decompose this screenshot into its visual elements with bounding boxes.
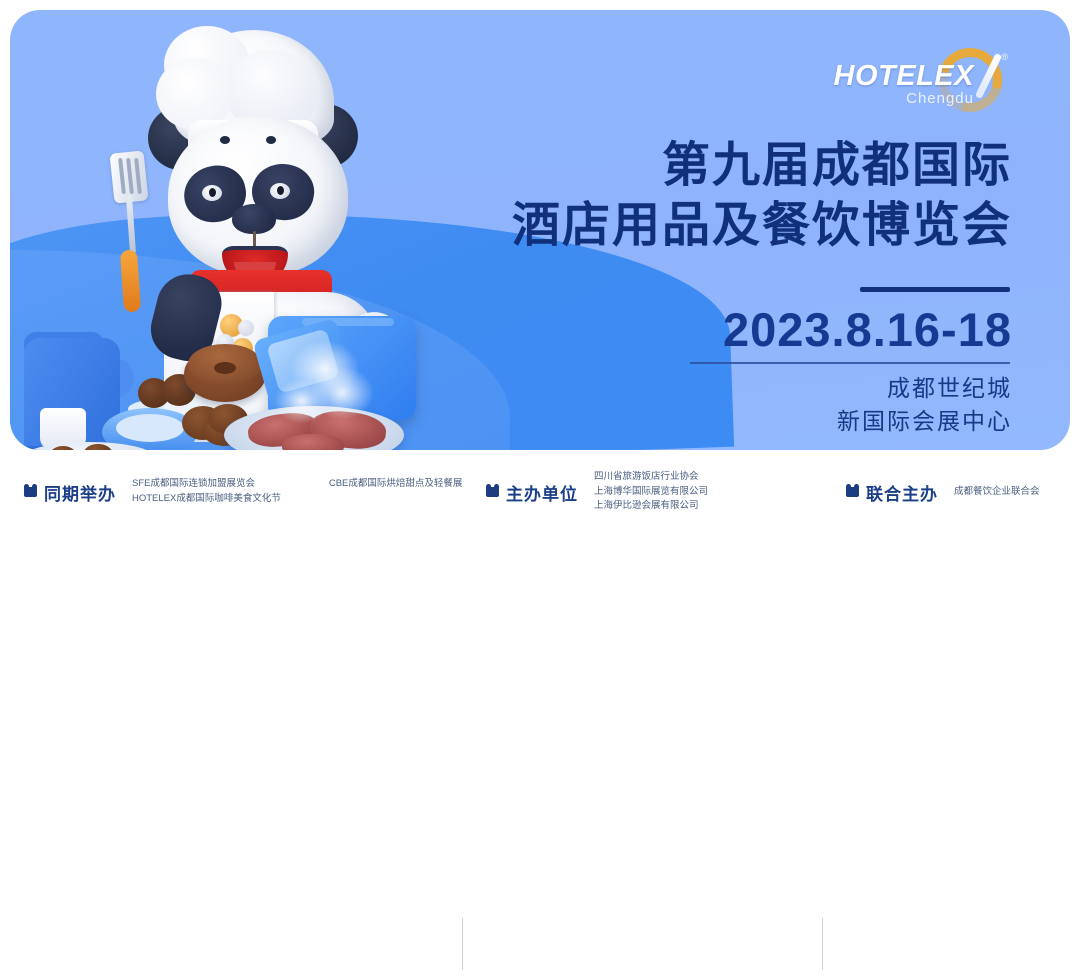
steam-puff — [274, 378, 330, 424]
event-poster: HOTELEX Chengdu ® 第九届成都国际 酒店用品及餐饮博览会 202… — [0, 0, 1080, 532]
date-divider — [690, 362, 1010, 364]
footer-items: 成都餐饮企业联合会 — [954, 485, 1040, 500]
title-line-1: 第九届成都国际 — [392, 136, 1012, 196]
panda-nose — [232, 204, 276, 234]
footer-label: 同期举办 — [44, 480, 116, 505]
footer-bar: 同期举办 SFE成都国际连锁加盟展览会 HOTELEX成都国际咖啡美食文化节 C… — [0, 452, 1080, 532]
footer-items-group-secondary: CBE成都国际烘焙甜点及轻餐展 — [329, 477, 463, 506]
footer-item: 四川省旅游饭店行业协会 — [594, 470, 708, 485]
hero-banner: HOTELEX Chengdu ® 第九届成都国际 酒店用品及餐饮博览会 202… — [10, 10, 1070, 450]
title-line-2: 酒店用品及餐饮博览会 — [392, 196, 1012, 256]
banner-marker-icon — [486, 487, 499, 497]
event-venue: 成都世纪城 新国际会展中心 — [392, 372, 1012, 437]
footer-divider — [822, 918, 823, 970]
grilled-meat — [282, 434, 344, 450]
venue-line-1: 成都世纪城 — [392, 372, 1012, 405]
registered-trademark-icon: ® — [1001, 52, 1008, 62]
footer-section-concurrent-events: 同期举办 SFE成都国际连锁加盟展览会 HOTELEX成都国际咖啡美食文化节 C… — [24, 452, 462, 532]
footer-item: 上海伊比逊会展有限公司 — [594, 499, 708, 514]
panda-brow-left — [220, 136, 230, 144]
event-date: 2023.8.16-18 — [392, 302, 1012, 357]
footer-item: SFE成都国际连锁加盟展览会 — [132, 477, 281, 492]
footer-items: SFE成都国际连锁加盟展览会 HOTELEX成都国际咖啡美食文化节 CBE成都国… — [132, 477, 462, 506]
banner-marker-icon — [24, 487, 37, 497]
footer-items: 四川省旅游饭店行业协会 上海博华国际展览有限公司 上海伊比逊会展有限公司 — [594, 470, 708, 514]
banner-marker-icon — [846, 487, 859, 497]
footer-divider — [462, 918, 463, 970]
logo-city-label: Chengdu — [828, 90, 974, 107]
footer-section-organizers: 主办单位 四川省旅游饭店行业协会 上海博华国际展览有限公司 上海伊比逊会展有限公… — [486, 452, 708, 532]
spatula-handle — [120, 249, 141, 312]
page-title: 第九届成都国际 酒店用品及餐饮博览会 — [392, 136, 1012, 255]
footer-item: HOTELEX成都国际咖啡美食文化节 — [132, 492, 281, 507]
hotelex-logo[interactable]: HOTELEX Chengdu ® — [828, 46, 1008, 118]
footer-label: 主办单位 — [506, 480, 578, 505]
title-divider — [860, 287, 1010, 292]
donut-hole — [214, 362, 236, 374]
blue-bowl-inner — [116, 414, 184, 442]
footer-items-group: SFE成都国际连锁加盟展览会 HOTELEX成都国际咖啡美食文化节 — [132, 477, 281, 506]
panda-pupil-right — [277, 186, 284, 195]
panda-pupil-left — [209, 188, 216, 197]
logo-wordmark: HOTELEX — [828, 60, 974, 93]
footer-label: 联合主办 — [866, 480, 938, 505]
footer-item: 成都餐饮企业联合会 — [954, 485, 1040, 500]
silver-medal-pin — [238, 320, 254, 336]
spatula-shaft — [126, 196, 136, 254]
venue-line-2: 新国际会展中心 — [392, 405, 1012, 438]
footer-section-co-organizer: 联合主办 成都餐饮企业联合会 — [846, 452, 1040, 532]
footer-item: 上海博华国际展览有限公司 — [594, 485, 708, 500]
panda-brow-right — [266, 136, 276, 144]
footer-item: CBE成都国际烘焙甜点及轻餐展 — [329, 477, 463, 492]
